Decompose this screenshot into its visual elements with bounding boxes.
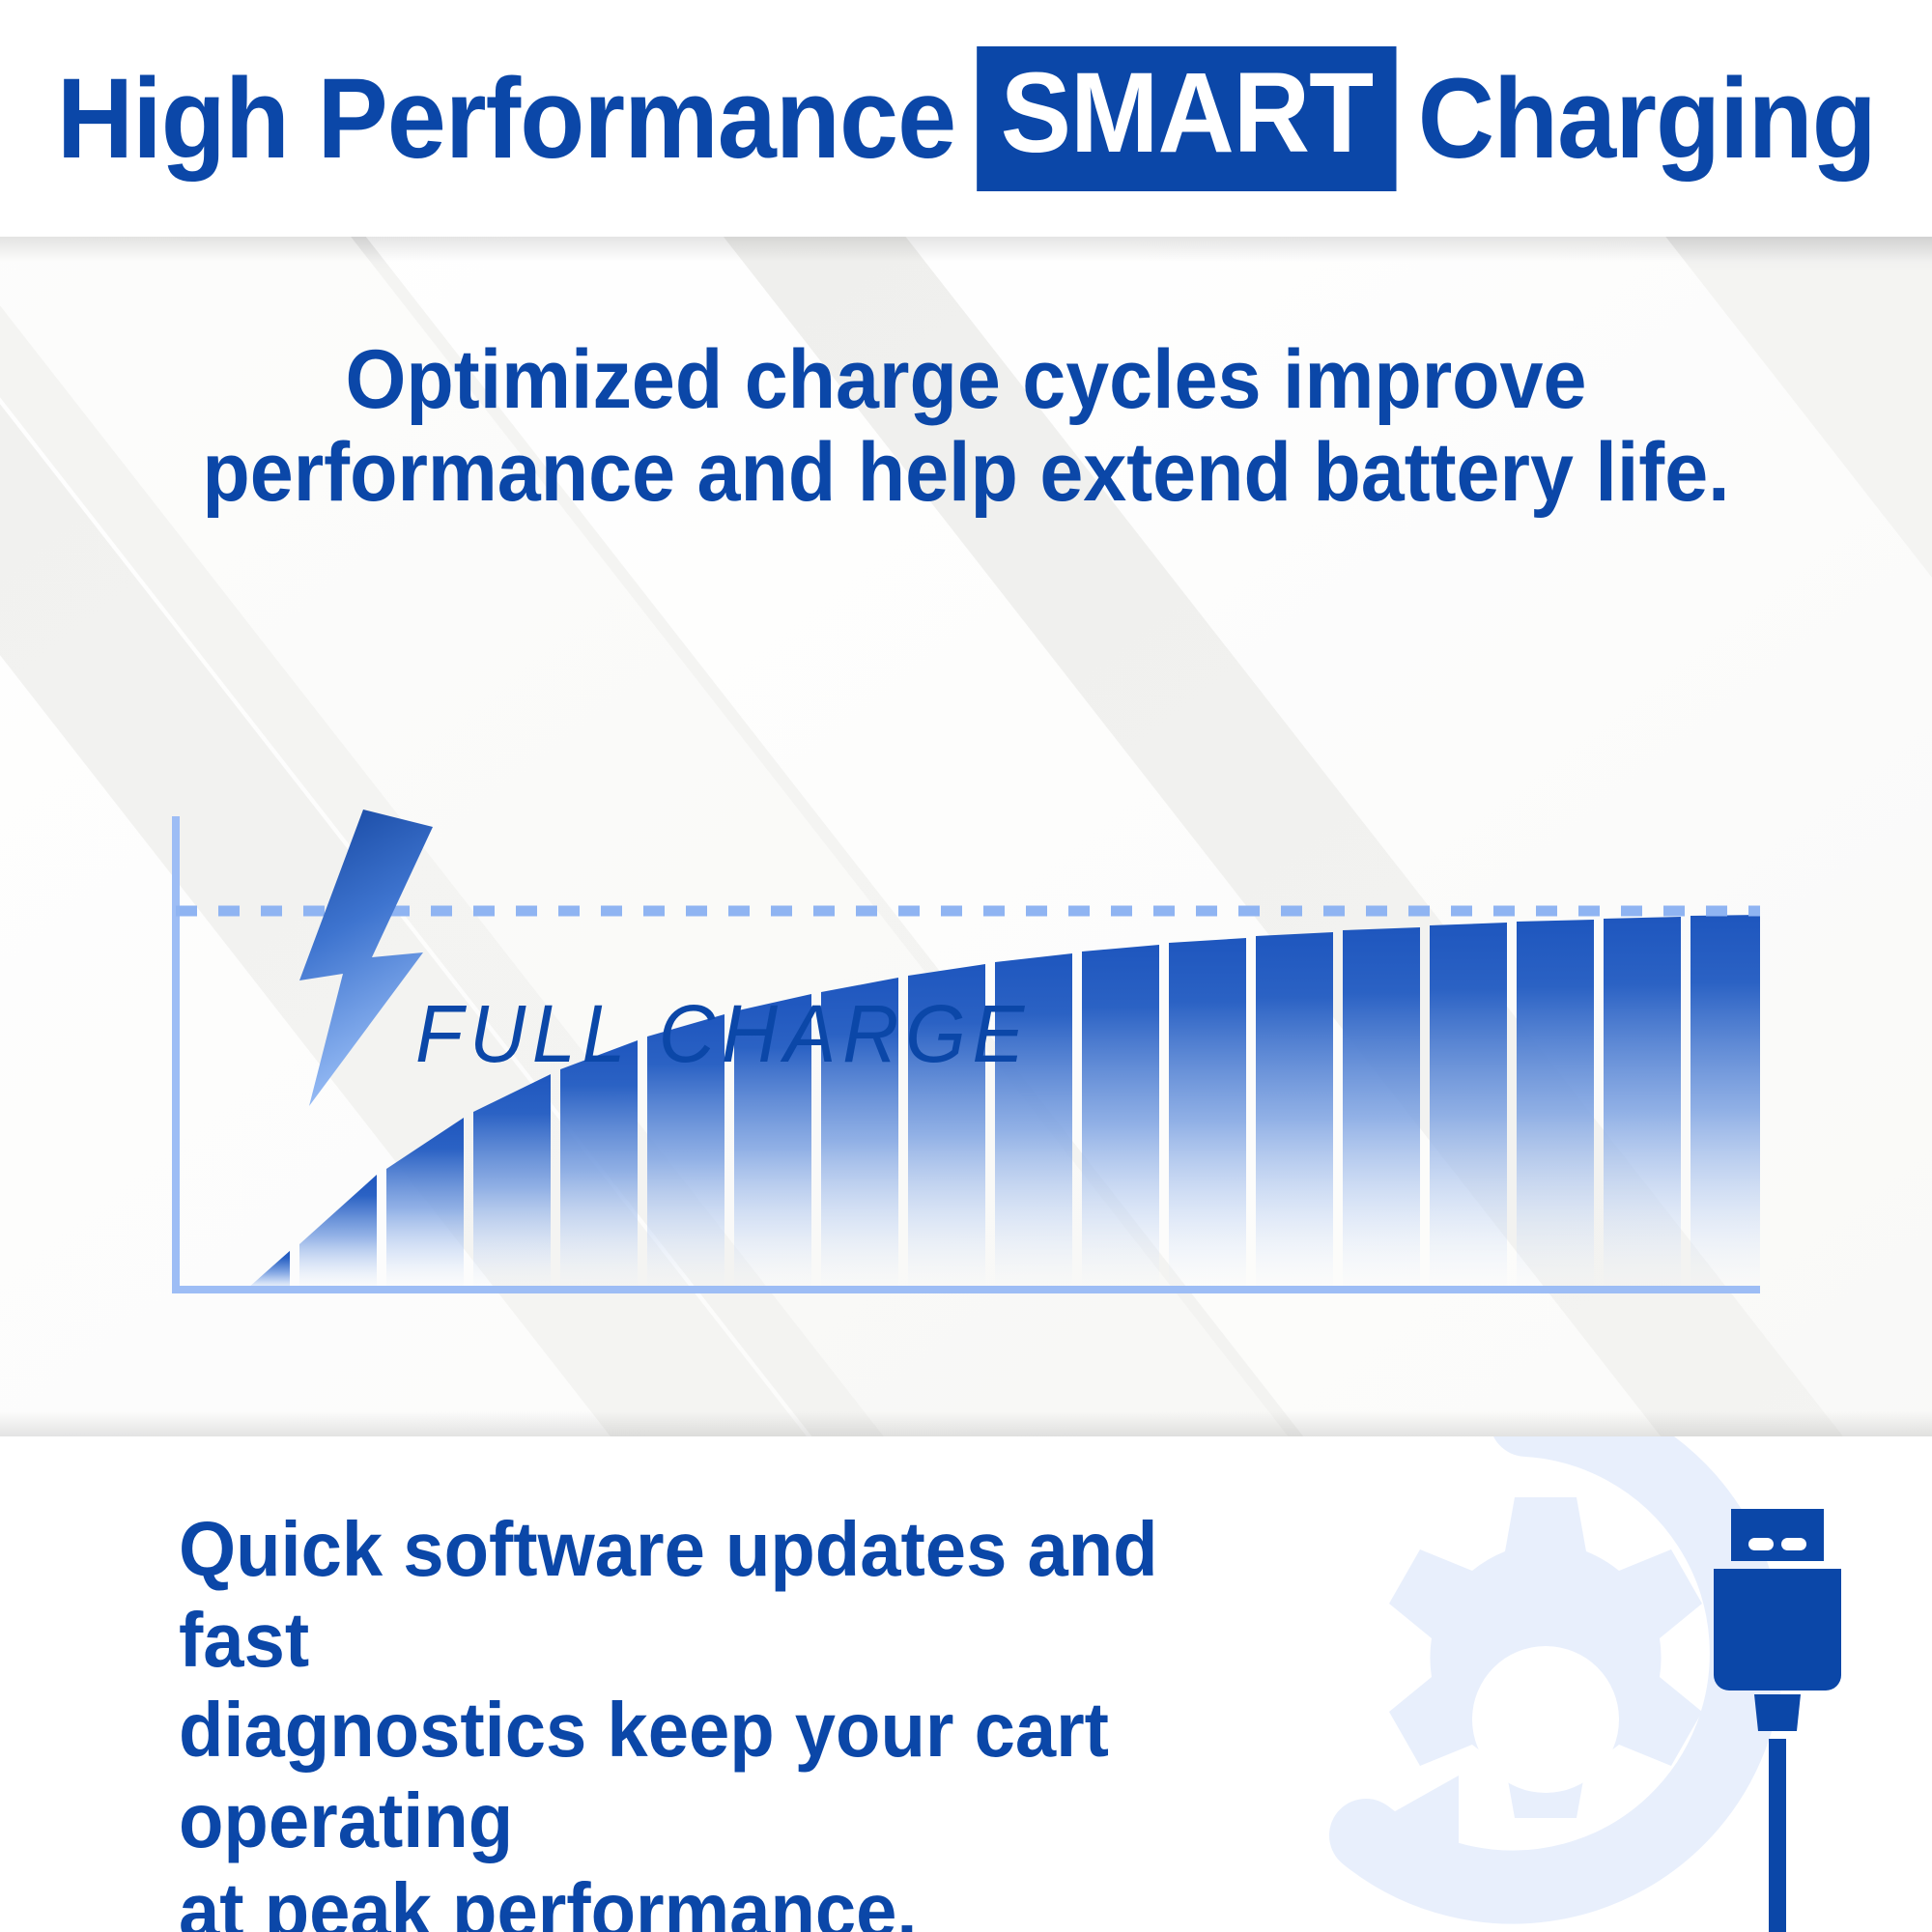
infographic-page: High PerformanceSMARTCharging Optimized … <box>0 0 1932 1932</box>
bar-2 <box>299 1175 377 1292</box>
usb-tip <box>1731 1509 1824 1561</box>
title-part-2: Charging <box>1405 62 1888 176</box>
lightning-bolt-icon <box>299 810 433 1106</box>
body-line-3: at peak performance. <box>179 1865 1262 1932</box>
bottom-panel: Quick software updates and fast diagnost… <box>0 1436 1932 1932</box>
body-line-1: Quick software updates and fast <box>179 1504 1262 1685</box>
usb-strain-relief <box>1754 1694 1801 1731</box>
bar-16 <box>1517 920 1594 1292</box>
header-bar: High PerformanceSMARTCharging <box>0 0 1932 237</box>
usb-cable <box>1769 1739 1786 1932</box>
usb-tip-slot-right <box>1781 1538 1806 1550</box>
gear-hub <box>1472 1646 1619 1793</box>
bar-18 <box>1690 915 1760 1292</box>
y-axis <box>172 816 180 1292</box>
x-axis <box>172 1286 1760 1293</box>
bar-14 <box>1343 927 1420 1292</box>
bar-13 <box>1256 932 1333 1292</box>
chart-panel: Optimized charge cycles improve performa… <box>0 237 1932 1436</box>
bar-4 <box>473 1074 551 1292</box>
bar-17 <box>1604 917 1681 1292</box>
usb-connector-icon <box>1681 1509 1874 1932</box>
bar-11 <box>1082 945 1159 1292</box>
charge-curve-chart: FULL CHARGE <box>0 237 1932 1436</box>
page-title: High PerformanceSMARTCharging <box>43 46 1888 191</box>
bar-1 <box>247 1251 290 1292</box>
bar-3 <box>386 1118 464 1292</box>
chart-bars <box>247 915 1760 1292</box>
bottom-body-text: Quick software updates and fast diagnost… <box>179 1504 1262 1932</box>
bar-15 <box>1430 923 1507 1292</box>
body-line-2: diagnostics keep your cart operating <box>179 1685 1262 1865</box>
title-part-1: High Performance <box>43 62 967 176</box>
usb-body <box>1714 1569 1841 1690</box>
full-charge-label: FULL CHARGE <box>415 993 1031 1074</box>
smart-badge: SMART <box>977 46 1396 191</box>
bar-12 <box>1169 938 1246 1292</box>
usb-tip-slot-left <box>1748 1538 1774 1550</box>
